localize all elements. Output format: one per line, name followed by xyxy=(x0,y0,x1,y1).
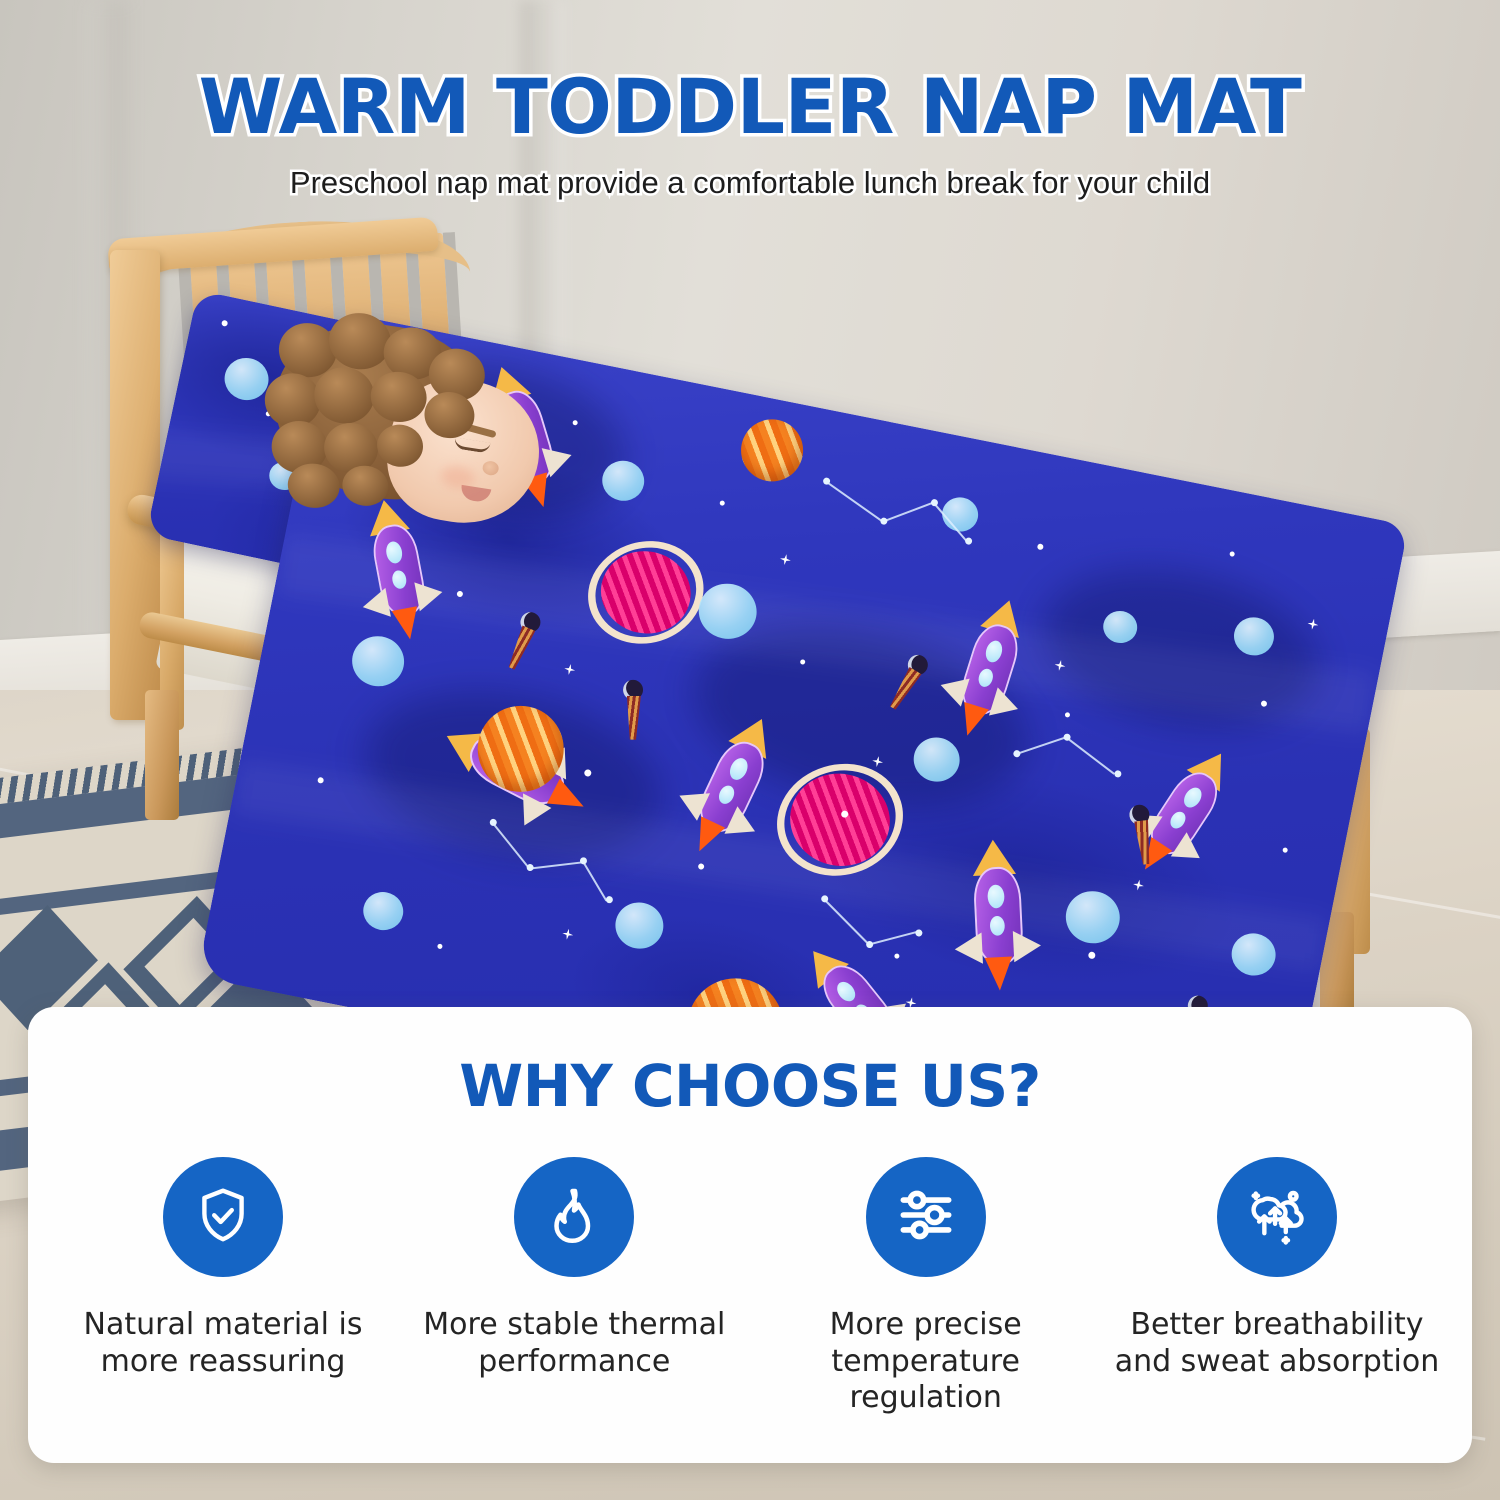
feature-caption-line1: Natural material is xyxy=(84,1307,363,1344)
feature-caption-line1: More stable thermal xyxy=(423,1307,725,1344)
feature-list: Natural material is more reassuring More… xyxy=(58,1157,1442,1417)
feature-icon-circle xyxy=(866,1157,986,1277)
product-infographic: WARM TODDLER NAP MAT Preschool nap mat p… xyxy=(0,0,1500,1500)
feature-caption-line2: performance xyxy=(423,1344,725,1381)
feature-item-temperature-regulation: More precise temperature regulation xyxy=(761,1157,1091,1417)
feature-caption-line2: temperature regulation xyxy=(761,1344,1091,1417)
feature-icon-circle xyxy=(514,1157,634,1277)
headboard-post xyxy=(110,250,160,720)
feature-caption-line1: Better breathability xyxy=(1115,1307,1440,1344)
sliders-icon xyxy=(894,1183,958,1252)
flame-icon xyxy=(544,1185,604,1250)
ringed-planet-motif xyxy=(769,749,910,890)
feature-caption: Better breathability and sweat absorptio… xyxy=(1115,1307,1440,1380)
feature-icon-circle xyxy=(163,1157,283,1277)
card-title: WHY CHOOSE US? xyxy=(28,1052,1472,1120)
feature-icon-circle xyxy=(1217,1157,1337,1277)
shield-check-icon xyxy=(192,1184,254,1251)
feature-caption: More stable thermal performance xyxy=(423,1307,725,1380)
ringed-planet-motif xyxy=(581,528,710,657)
sleeping-child xyxy=(250,306,615,605)
bed-leg xyxy=(145,690,179,820)
page-subtitle: Preschool nap mat provide a comfortable … xyxy=(0,165,1500,201)
feature-item-breathability: Better breathability and sweat absorptio… xyxy=(1112,1157,1442,1380)
striped-planet-motif xyxy=(736,414,809,487)
breathability-clouds-icon xyxy=(1244,1182,1310,1253)
feature-caption-line1: More precise xyxy=(761,1307,1091,1344)
feature-item-natural-material: Natural material is more reassuring xyxy=(58,1157,388,1380)
feature-caption: More precise temperature regulation xyxy=(761,1307,1091,1417)
why-choose-us-card: WHY CHOOSE US? Natural material is more … xyxy=(28,1007,1472,1463)
page-title: WARM TODDLER NAP MAT xyxy=(0,62,1500,151)
feature-caption: Natural material is more reassuring xyxy=(84,1307,363,1380)
feature-caption-line2: more reassuring xyxy=(84,1344,363,1381)
feature-caption-line2: and sweat absorption xyxy=(1115,1344,1440,1381)
feature-item-thermal-performance: More stable thermal performance xyxy=(409,1157,739,1380)
